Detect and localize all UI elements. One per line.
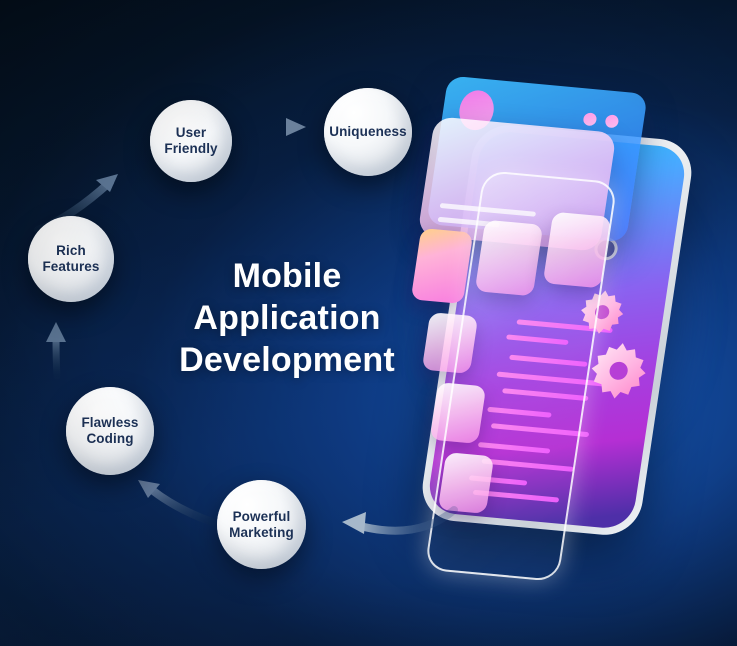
title-line-1: Mobile	[158, 256, 416, 298]
poster-canvas: Mobile Application Development	[0, 0, 737, 646]
title-line-2: Application	[158, 298, 416, 340]
arrow-flawless-to-rich	[36, 318, 76, 380]
cycle-node-uniqueness[interactable]: Uniqueness	[324, 88, 412, 176]
node-label-line: Uniqueness	[329, 124, 407, 140]
title-line-3: Development	[158, 340, 416, 382]
node-label-line: Flawless	[81, 415, 138, 431]
cycle-node-user-friendly[interactable]: User Friendly	[150, 100, 232, 182]
cycle-node-flawless-coding[interactable]: Flawless Coding	[66, 387, 154, 475]
node-label-line: Friendly	[164, 141, 217, 157]
node-label-line: Features	[42, 259, 99, 275]
arrow-user-to-uniqueness	[252, 112, 314, 142]
arrow-marketing-to-flawless	[128, 470, 218, 530]
page-title: Mobile Application Development	[158, 256, 416, 381]
header-dot	[583, 112, 598, 126]
header-dot	[604, 114, 619, 128]
node-label-line: Rich	[42, 243, 99, 259]
node-label-line: Powerful	[229, 509, 294, 525]
cycle-node-powerful-marketing[interactable]: Powerful Marketing	[217, 480, 306, 569]
node-label-line: Coding	[81, 431, 138, 447]
node-label-line: Marketing	[229, 525, 294, 541]
smartphone-illustration	[392, 62, 722, 582]
node-label-line: User	[164, 125, 217, 141]
thumbnail-card	[411, 228, 474, 304]
cycle-node-rich-features[interactable]: Rich Features	[28, 216, 114, 302]
